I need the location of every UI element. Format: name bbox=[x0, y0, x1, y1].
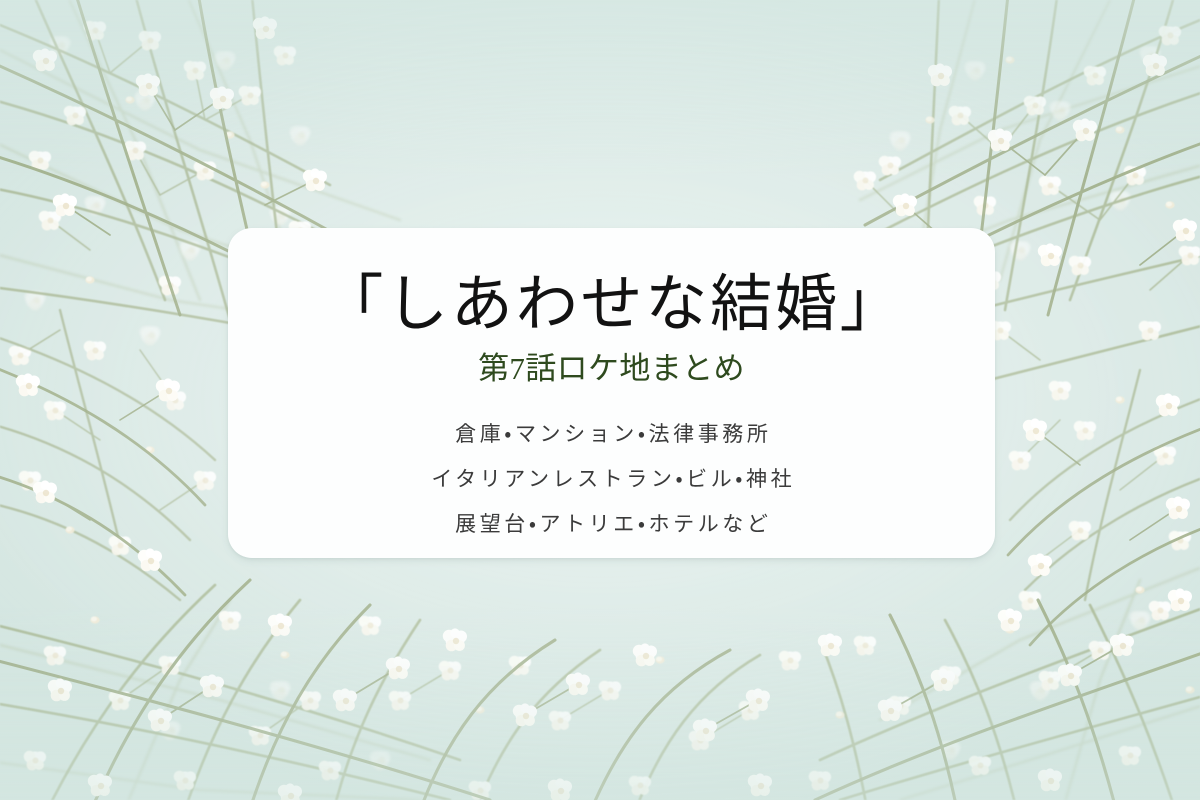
poster-canvas: 「しあわせな結婚」 第7話ロケ地まとめ 倉庫・マンション・法律事務所 イタリアン… bbox=[0, 0, 1200, 800]
description-block: 倉庫・マンション・法律事務所 イタリアンレストラン・ビル・神社 展望台・アトリエ… bbox=[428, 412, 795, 547]
description-line-1: 倉庫・マンション・法律事務所 bbox=[452, 412, 772, 457]
page-subtitle: 第7話ロケ地まとめ bbox=[478, 353, 745, 384]
page-title: 「しあわせな結婚」 bbox=[319, 274, 905, 336]
title-card: 「しあわせな結婚」 第7話ロケ地まとめ 倉庫・マンション・法律事務所 イタリアン… bbox=[228, 228, 995, 558]
description-line-2: イタリアンレストラン・ビル・神社 bbox=[428, 457, 795, 502]
description-line-3: 展望台・アトリエ・ホテルなど bbox=[452, 502, 772, 547]
